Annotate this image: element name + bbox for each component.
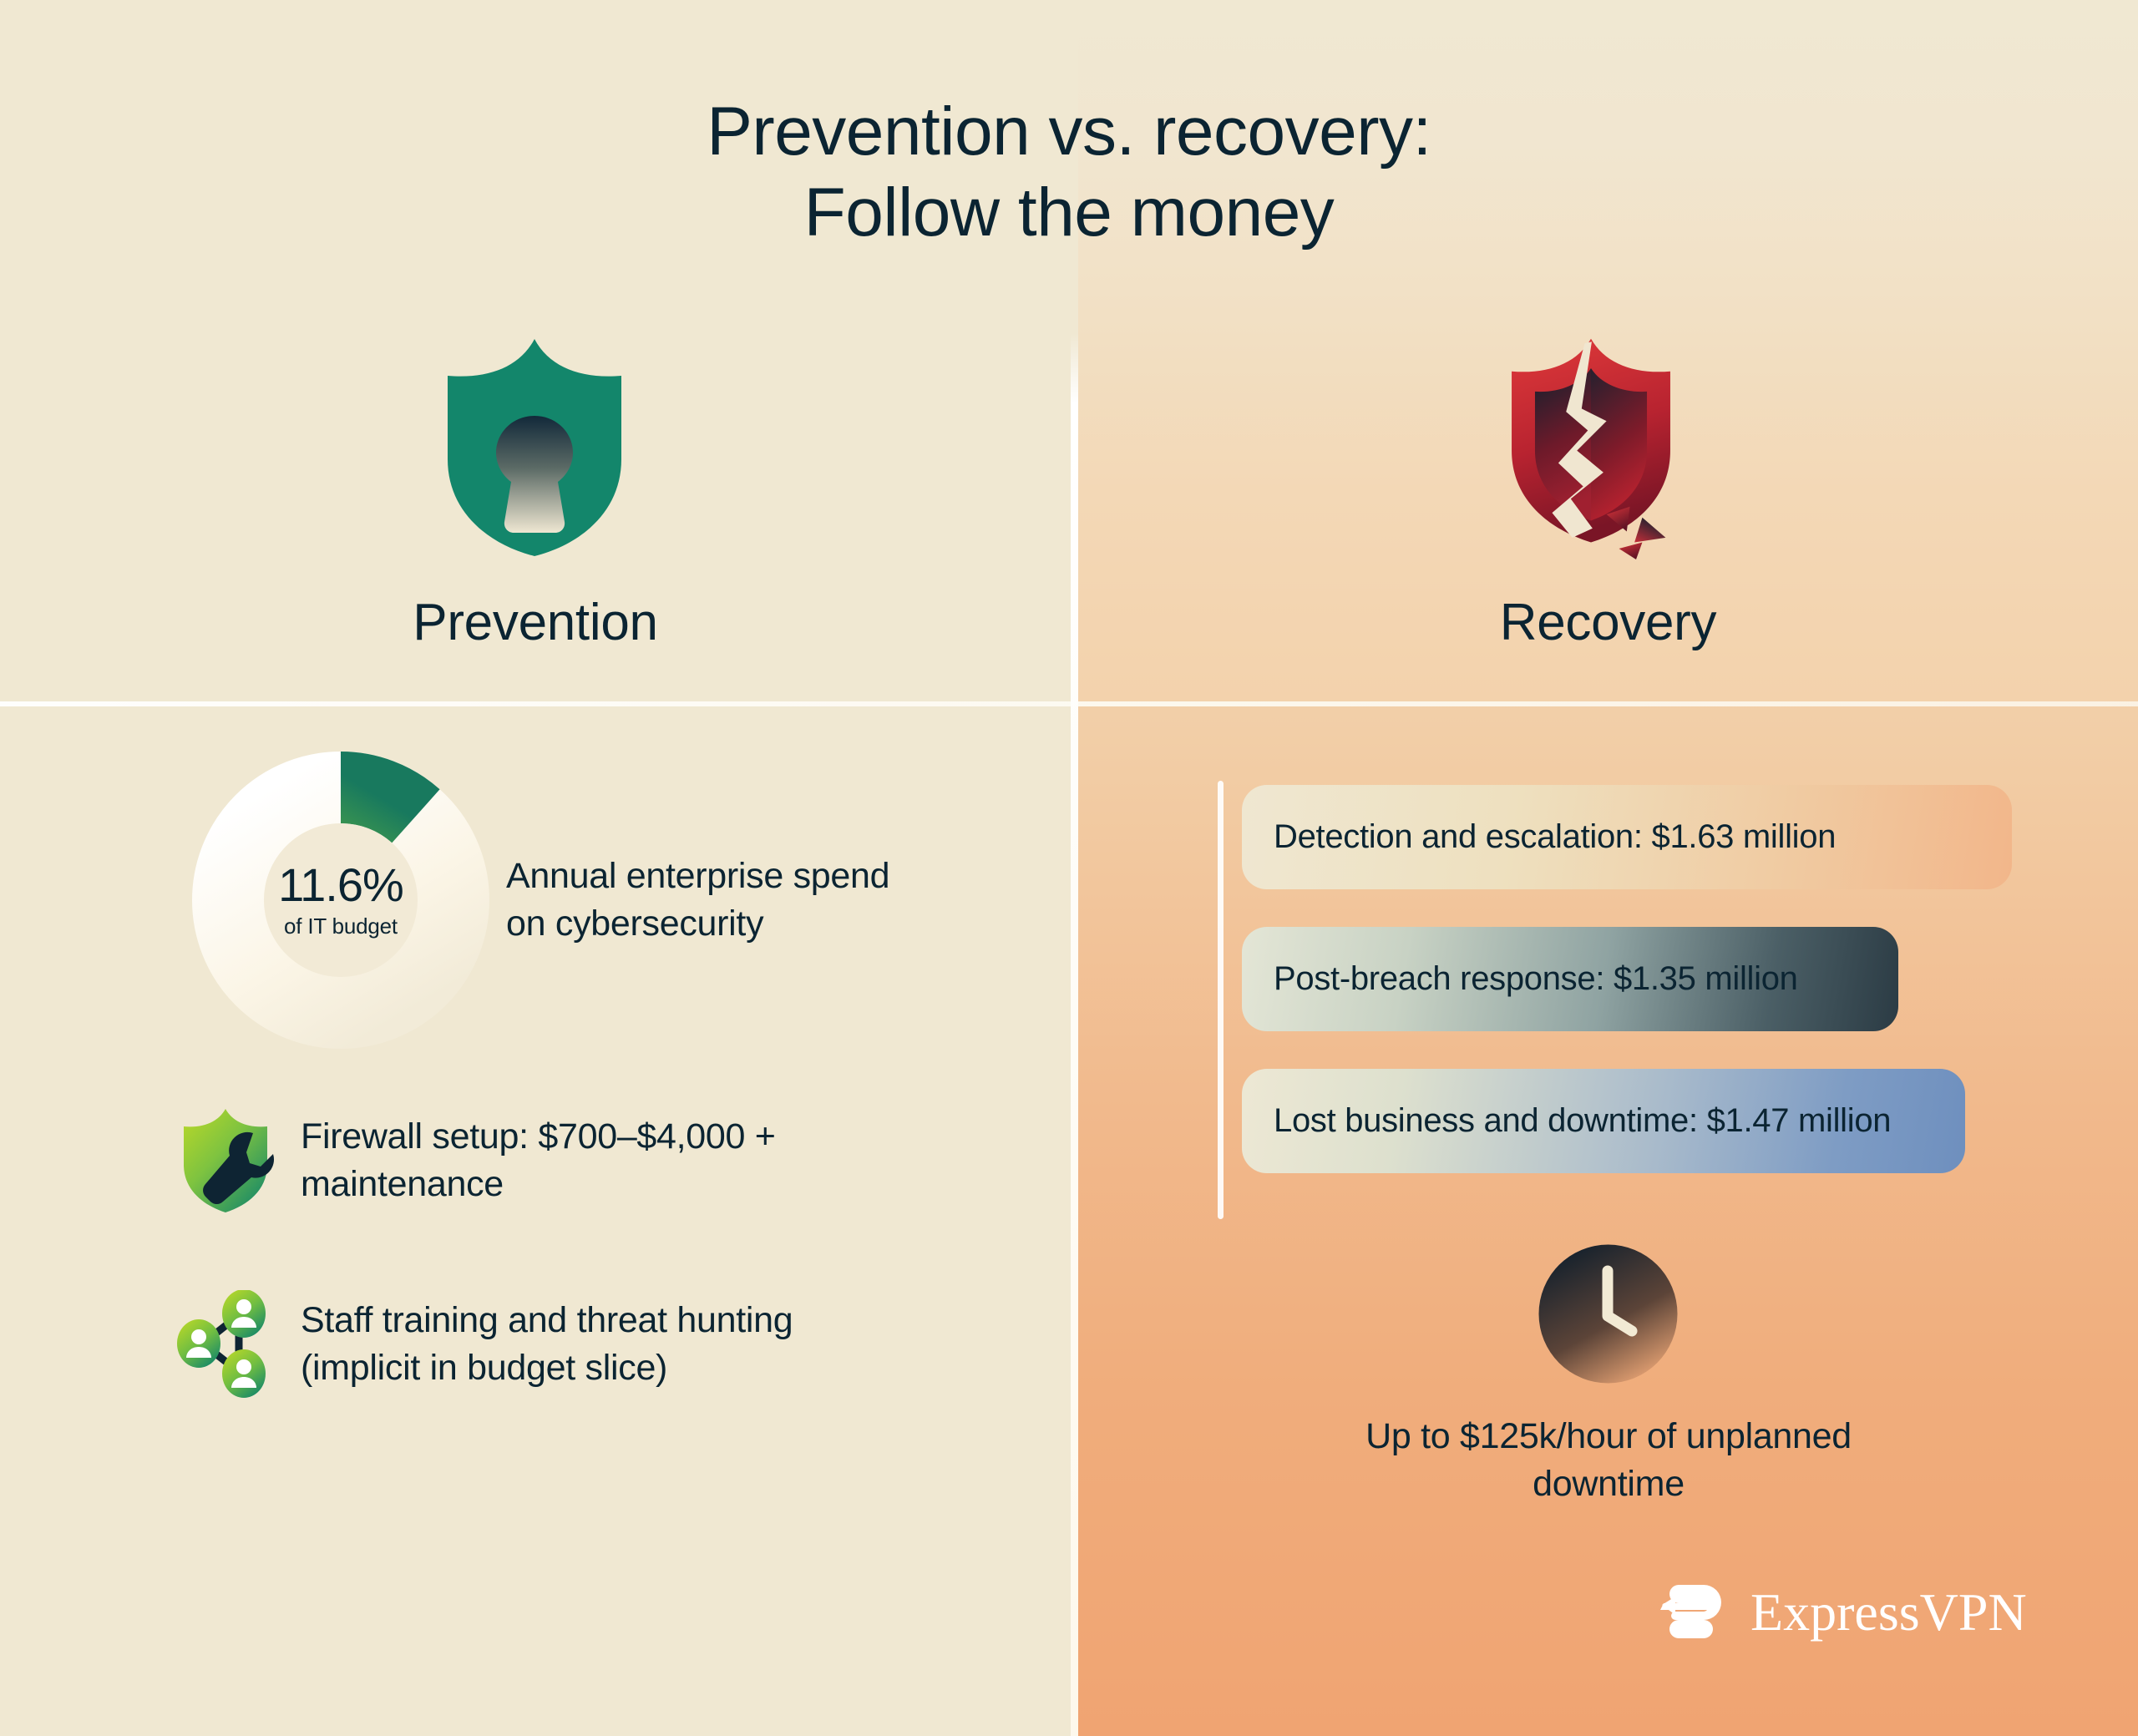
prevention-item-3-text: Staff training and threat hunting (impli… <box>301 1297 793 1392</box>
infographic-canvas: Prevention vs. recovery: Follow the mone… <box>0 0 2138 1736</box>
downtime-caption-line-1: Up to $125k/hour of unplanned <box>1365 1416 1852 1456</box>
prevention-item-1-text: Annual enterprise spend on cybersecurity <box>506 853 889 948</box>
prevention-item-3-line-2: (implicit in budget slice) <box>301 1348 667 1388</box>
shield-lock-icon <box>426 334 643 559</box>
prevention-item-2: Firewall setup: $700–$4,000 + maintenanc… <box>175 1106 776 1215</box>
bar-label: Post-breach response: $1.35 million <box>1274 960 1798 998</box>
bar-label: Detection and escalation: $1.63 million <box>1274 818 1836 856</box>
prevention-item-1: 11.6% of IT budget Annual enterprise spe… <box>190 750 889 1050</box>
prevention-item-1-line-2: on cybersecurity <box>506 903 763 944</box>
people-network-icon <box>175 1290 276 1399</box>
vertical-divider <box>1071 333 1078 1736</box>
recovery-bar-chart: Detection and escalation: $1.63 million … <box>1242 785 2085 1173</box>
bar-lost-business-and-downtime: Lost business and downtime: $1.47 millio… <box>1242 1069 1965 1173</box>
page-title: Prevention vs. recovery: Follow the mone… <box>0 92 2138 254</box>
prevention-item-3: Staff training and threat hunting (impli… <box>175 1290 793 1399</box>
bar-post-breach-response: Post-breach response: $1.35 million <box>1242 927 1898 1031</box>
bar-label: Lost business and downtime: $1.47 millio… <box>1274 1102 1891 1140</box>
clock-icon <box>1538 1244 1678 1384</box>
broken-shield-icon <box>1482 334 1700 559</box>
shield-wrench-icon <box>175 1106 276 1215</box>
expressvpn-logo[interactable]: ExpressVPN <box>1660 1578 2027 1647</box>
expressvpn-logo-icon <box>1660 1578 1729 1647</box>
prevention-item-3-line-1: Staff training and threat hunting <box>301 1300 793 1340</box>
prevention-item-2-line-1: Firewall setup: $700–$4,000 + <box>301 1116 776 1156</box>
page-title-line-2: Follow the money <box>0 173 2138 254</box>
bar-detection-and-escalation: Detection and escalation: $1.63 million <box>1242 785 2012 889</box>
downtime-caption-line-2: downtime <box>1533 1464 1685 1504</box>
prevention-item-1-line-1: Annual enterprise spend <box>506 856 889 896</box>
prevention-item-2-text: Firewall setup: $700–$4,000 + maintenanc… <box>301 1113 776 1208</box>
column-heading-prevention: Prevention <box>0 593 1071 652</box>
prevention-item-2-line-2: maintenance <box>301 1164 504 1204</box>
horizontal-divider <box>0 701 2138 706</box>
bar-chart-axis-rail <box>1218 781 1224 1219</box>
column-heading-recovery: Recovery <box>1078 593 2138 652</box>
page-title-line-1: Prevention vs. recovery: <box>707 94 1431 170</box>
donut-chart-icon: 11.6% of IT budget <box>190 750 491 1050</box>
expressvpn-wordmark: ExpressVPN <box>1750 1586 2027 1639</box>
downtime-caption: Up to $125k/hour of unplanned downtime <box>1279 1413 1938 1508</box>
